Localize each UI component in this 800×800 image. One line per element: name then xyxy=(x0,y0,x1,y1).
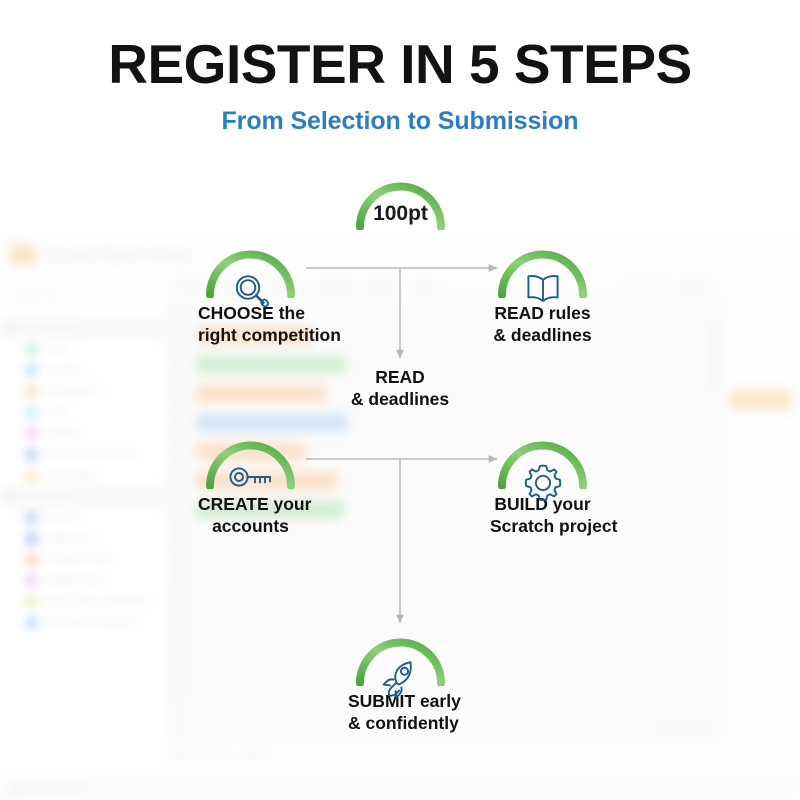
step-build-line2: Scratch project xyxy=(490,515,595,537)
center-note-line2: & deadlines xyxy=(315,388,485,410)
step-choose-gauge xyxy=(198,240,303,298)
score-value: 100pt xyxy=(348,202,453,226)
step-create-gauge xyxy=(198,431,303,489)
page-title: REGISTER IN 5 STEPS xyxy=(0,36,800,93)
center-note-read-deadlines: READ & deadlines xyxy=(315,366,485,410)
step-choose[interactable]: CHOOSE the right competition xyxy=(198,240,303,346)
score-gauge: 100pt xyxy=(348,172,453,230)
gauge-arc-icon: 100pt xyxy=(348,172,453,230)
step-read[interactable]: READ rules & deadlines xyxy=(490,240,595,346)
step-create-line2: accounts xyxy=(198,515,303,537)
step-choose-line2: right competition xyxy=(198,324,303,346)
step-create-line1: CREATE your xyxy=(198,493,303,515)
page-subtitle: From Selection to Submission xyxy=(0,107,800,136)
step-submit-gauge xyxy=(348,628,453,686)
title-block: REGISTER IN 5 STEPS From Selection to Su… xyxy=(0,36,800,136)
open-book-icon xyxy=(522,270,564,308)
gear-icon xyxy=(522,461,564,503)
rocket-icon xyxy=(379,658,423,700)
step-create[interactable]: CREATE your accounts xyxy=(198,431,303,537)
step-read-gauge xyxy=(490,240,595,298)
step-create-label: CREATE your accounts xyxy=(198,493,303,537)
magnifier-icon xyxy=(230,270,272,312)
step-submit-line2: & confidently xyxy=(348,712,453,734)
key-icon xyxy=(227,461,275,493)
step-read-label: READ rules & deadlines xyxy=(490,302,595,346)
center-note-line1: READ xyxy=(315,366,485,388)
step-read-line2: & deadlines xyxy=(490,324,595,346)
step-build-gauge xyxy=(490,431,595,489)
step-build[interactable]: BUILD your Scratch project xyxy=(490,431,595,537)
step-submit[interactable]: SUBMIT early & confidently xyxy=(348,628,453,734)
